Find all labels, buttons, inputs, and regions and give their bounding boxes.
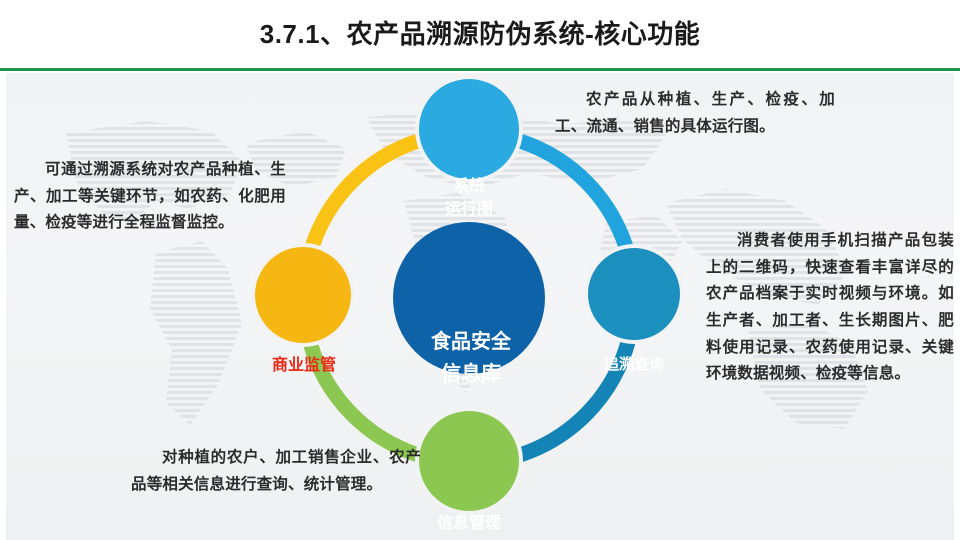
- caption-traceability-query: 消费者使用手机扫描产品包装上的二维码，快速查看丰富详尽的农产品档案于实时视频与环…: [706, 228, 954, 388]
- node-center-food-safety-database[interactable]: [393, 222, 545, 374]
- node-bottom-information-management[interactable]: [419, 411, 519, 511]
- caption-information-management: 对种植的农户、加工销售企业、农产品等相关信息进行查询、统计管理。: [131, 445, 421, 498]
- title-bar: 3.7.1、农产品溯源防伪系统-核心功能: [0, 0, 960, 70]
- page-title: 3.7.1、农产品溯源防伪系统-核心功能: [0, 14, 960, 51]
- node-left-business-supervision[interactable]: [255, 247, 351, 343]
- title-divider: [0, 68, 960, 71]
- caption-business-supervision: 可通过溯源系统对农产品种植、生产、加工等关键环节，如农药、化肥用量、检疫等进行全…: [14, 157, 286, 237]
- node-top-system-operation-diagram[interactable]: [419, 79, 519, 179]
- content-canvas: 系统 运行图 追溯查询 信息管理 商业监管 食品安全 信息库 农产品从种植、生产…: [6, 73, 954, 540]
- slide-root: 3.7.1、农产品溯源防伪系统-核心功能: [0, 0, 960, 540]
- node-right-traceability-query[interactable]: [588, 248, 680, 340]
- caption-system-operation-diagram: 农产品从种植、生产、检疫、加工、流通、销售的具体运行图。: [555, 87, 835, 140]
